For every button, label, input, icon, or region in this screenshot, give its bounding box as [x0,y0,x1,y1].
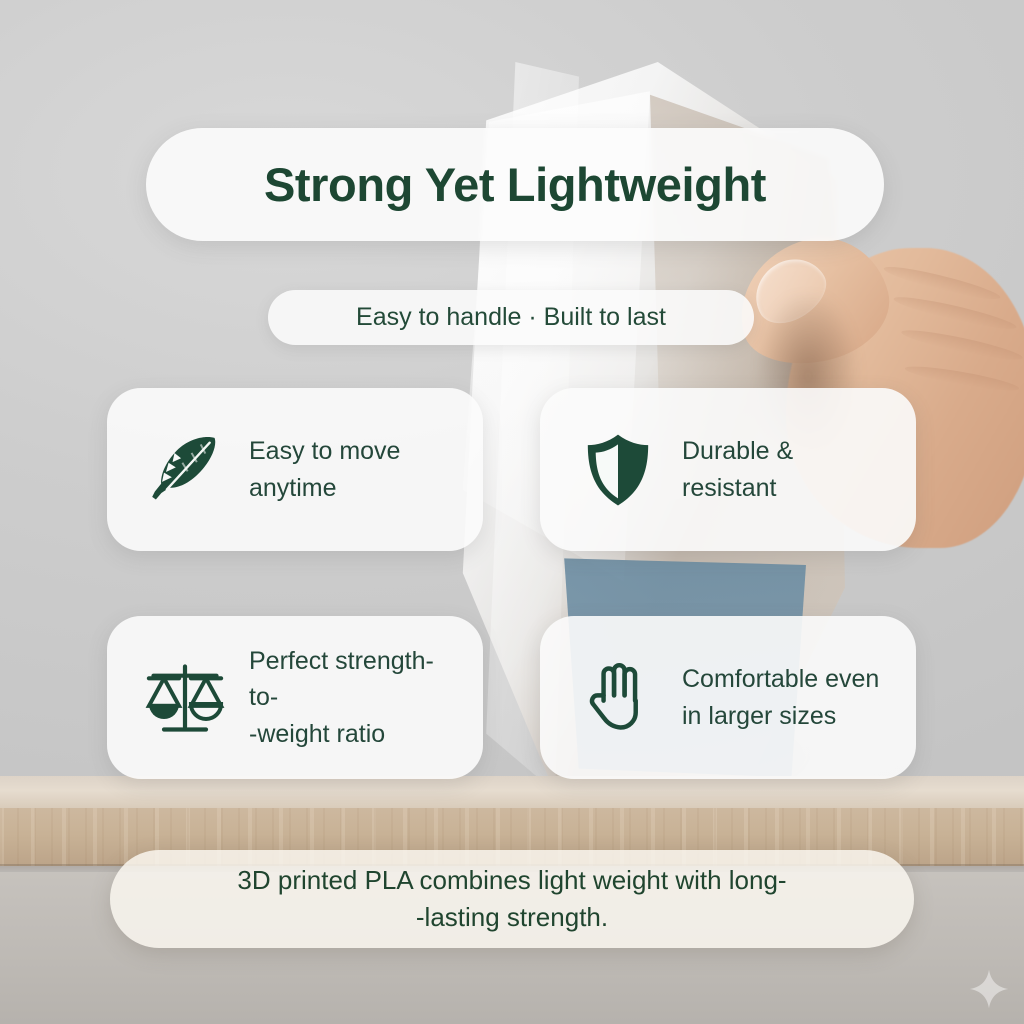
feature-card-durable: Durable & resistant [540,388,916,551]
footer-banner: 3D printed PLA combines light weight wit… [110,850,914,948]
promo-graphic: Strong Yet Lightweight Easy to handle · … [0,0,1024,1024]
shield-icon [576,428,660,512]
subtitle-pill: Easy to handle · Built to last [268,290,754,345]
feature-card-label: Durable & resistant [682,433,793,506]
feather-icon [143,428,227,512]
feature-card-label: Comfortable even in larger sizes [682,661,879,734]
title-pill: Strong Yet Lightweight [146,128,884,241]
feature-card-easy-to-move: Easy to move anytime [107,388,483,551]
feature-card-comfortable: Comfortable even in larger sizes [540,616,916,779]
hand-icon [576,656,660,740]
scales-icon [143,656,227,740]
feature-card-label: Easy to move anytime [249,433,400,506]
feature-card-label: Perfect strength-to- -weight ratio [249,643,461,753]
info-overlay: Strong Yet Lightweight Easy to handle · … [0,0,1024,1024]
feature-card-strength-to-weight: Perfect strength-to- -weight ratio [107,616,483,779]
page-subtitle: Easy to handle · Built to last [356,303,666,332]
footer-text: 3D printed PLA combines light weight wit… [237,862,786,936]
page-title: Strong Yet Lightweight [264,157,766,212]
